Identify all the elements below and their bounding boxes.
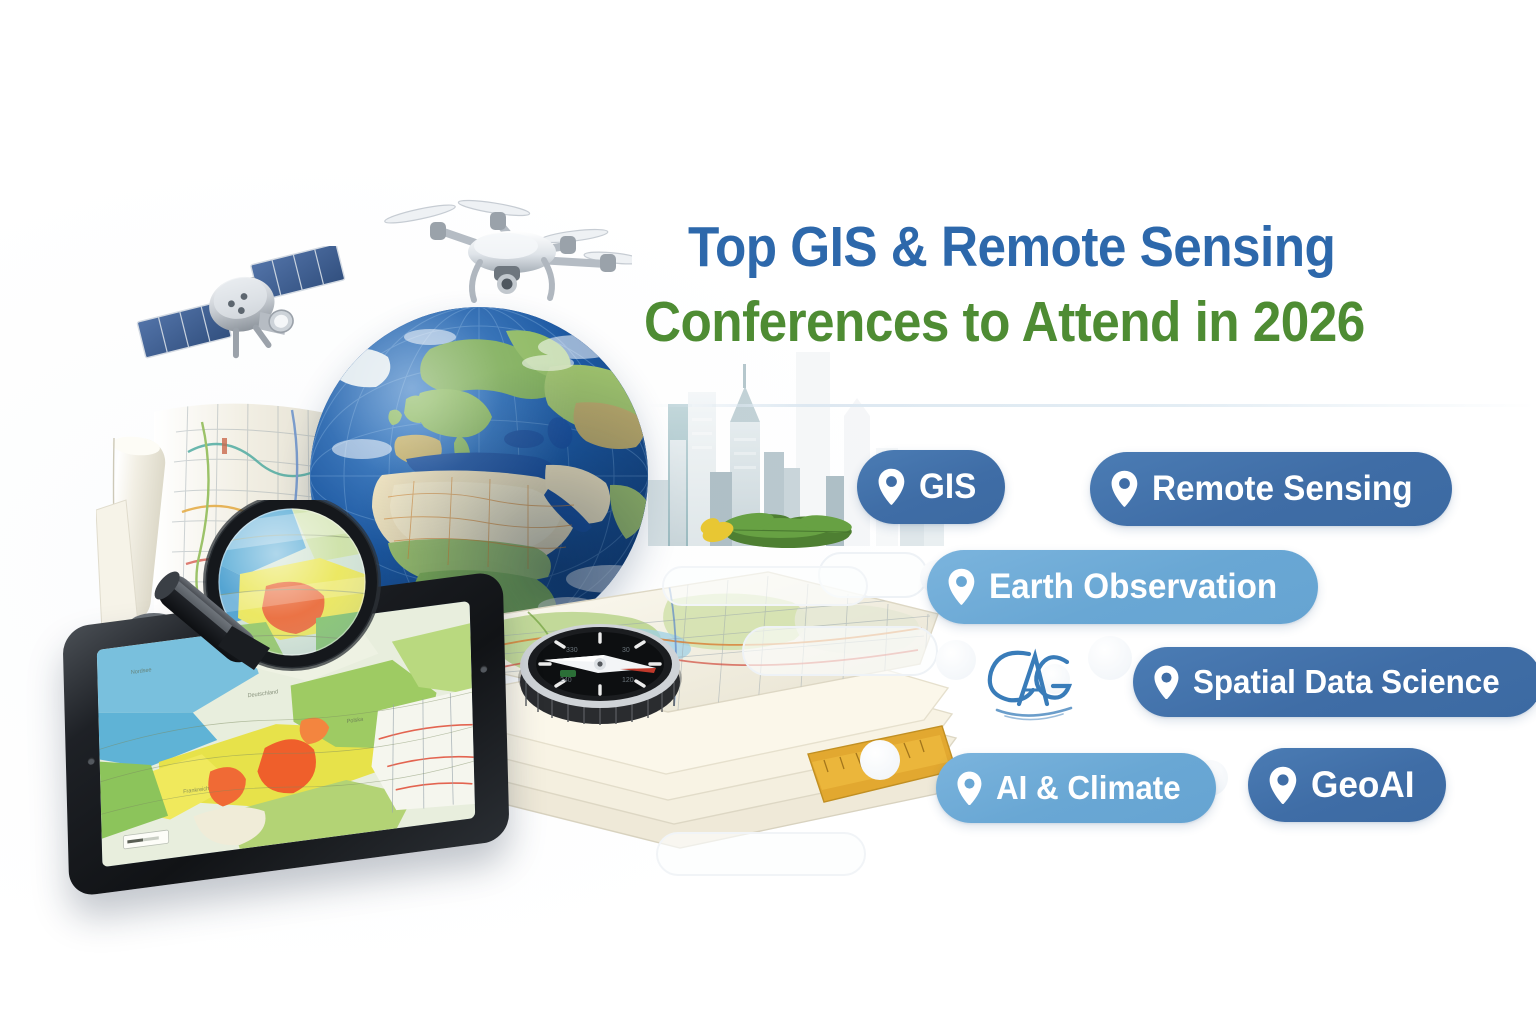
ghost-circle-shape [860,740,900,780]
location-pin-icon [947,568,989,605]
tag-pill-label: AI & Climate [996,769,1181,807]
location-pin-icon [1153,665,1193,700]
title-divider [648,404,1536,407]
ghost-pill-shape [656,832,866,876]
location-pin-icon [877,468,919,505]
ghost-pill-shape [662,566,868,606]
location-pin-icon [877,468,906,505]
tag-pill-ai-climate[interactable]: AI & Climate [936,753,1216,823]
drone-icon [378,196,632,306]
svg-text:240: 240 [560,677,572,684]
page-title: Top GIS & Remote Sensing Conferences to … [688,210,1478,360]
location-pin-icon [1110,470,1152,507]
tag-pill-label: Remote Sensing [1152,469,1413,509]
svg-text:30: 30 [622,647,630,654]
tag-pill-label: Earth Observation [989,567,1277,607]
tag-pill-remote-sensing[interactable]: Remote Sensing [1090,452,1452,526]
tag-pill-earth-observation[interactable]: Earth Observation [927,550,1318,624]
satellite-icon [134,246,354,381]
magnifying-glass-icon [120,500,430,730]
poster-canvas: 33030 240120 [0,0,1536,1024]
tag-pill-label: Spatial Data Science [1193,663,1500,701]
location-pin-icon [956,771,983,806]
tag-pill-label: GeoAI [1311,764,1415,806]
title-line-2: Conferences to Attend in 2026 [644,285,1395,360]
green-shrub-icon [700,498,875,558]
tablet-camera-dot [480,665,487,673]
tablet-home-dot [88,757,95,765]
location-pin-icon [1268,766,1311,804]
ghost-circle-shape [936,640,976,680]
title-line-1: Top GIS & Remote Sensing [688,210,1399,285]
svg-text:330: 330 [566,647,578,654]
location-pin-icon [1153,665,1180,700]
ghost-pill-shape [742,626,938,676]
tag-pill-geoai[interactable]: GeoAI [1248,748,1446,822]
location-pin-icon [956,771,996,806]
location-pin-icon [947,568,976,605]
location-pin-icon [1110,470,1139,507]
location-pin-icon [1268,766,1298,804]
tag-pill-spatial-data-science[interactable]: Spatial Data Science [1133,647,1536,717]
ag-monogram-logo [975,638,1095,724]
svg-text:120: 120 [622,677,634,684]
tag-pill-label: GIS [919,467,976,507]
tag-pill-gis[interactable]: GIS [857,450,1005,524]
